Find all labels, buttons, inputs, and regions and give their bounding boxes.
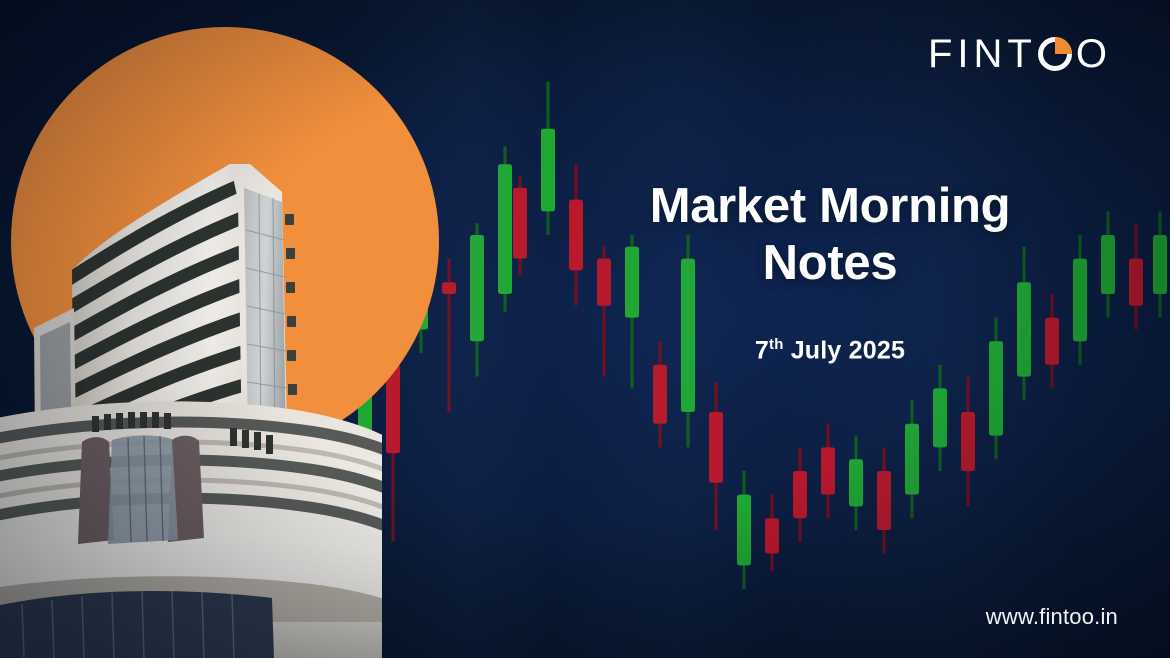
candlestick [821,424,835,518]
date-day: 7 [755,336,769,364]
candlestick [1153,211,1167,317]
candlestick [541,82,555,235]
candlestick [961,377,975,507]
candlestick [1129,223,1143,329]
candlestick [569,164,583,306]
bse-tower-photo [0,140,382,658]
fintoo-logo[interactable]: FINT O [928,32,1112,76]
candlestick [709,383,723,531]
candlestick [793,447,807,541]
candlestick [849,436,863,530]
candlestick [498,147,512,312]
logo-wordmark: FINT O [928,34,1112,74]
candlestick [513,176,527,276]
publish-date: 7th July 2025 [590,336,1070,365]
candlestick [933,365,947,471]
date-month-year: July 2025 [784,336,906,364]
candlestick [905,400,919,518]
logo-text-after: O [1076,34,1112,74]
candlestick [737,471,751,589]
title-line-2: Notes [590,235,1070,292]
candlestick [765,495,779,572]
title-line-1: Market Morning [590,178,1070,235]
candlestick [470,223,484,376]
page-title: Market Morning Notes [590,178,1070,292]
candlestick [1101,211,1115,317]
poster-canvas: FINT O Market Morning Notes 7th July 202… [0,0,1170,658]
candlestick [442,259,456,412]
website-url[interactable]: www.fintoo.in [986,604,1118,630]
logo-o-orange-wedge [1055,37,1072,54]
logo-o-accent-icon [1038,37,1072,71]
candlestick [877,447,891,553]
candlestick [1073,235,1087,365]
logo-text-before: FINT [928,34,1037,74]
date-ordinal-suffix: th [769,336,784,353]
headline-block: Market Morning Notes 7th July 2025 [590,178,1070,365]
